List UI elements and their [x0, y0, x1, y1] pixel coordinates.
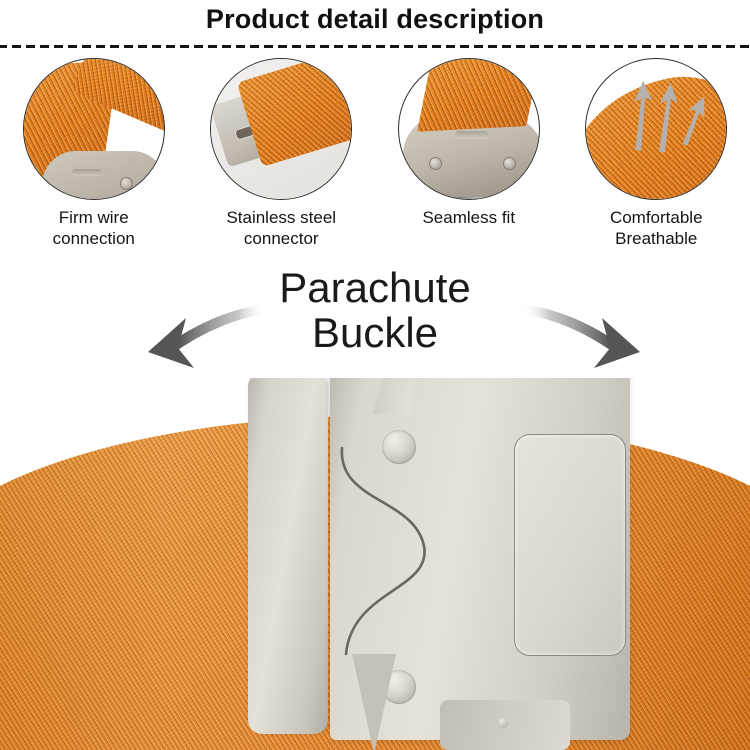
feature-item-stainless-steel-connector: Stainless steel connector: [188, 58, 376, 250]
rivet-icon: [120, 177, 133, 190]
stainless-steel-connector-photo-icon: [210, 58, 352, 200]
parachute-buckle: [0, 378, 750, 750]
seamless-fit-photo-icon: [398, 58, 540, 200]
breathable-fabric-airflow-photo-icon: [585, 58, 727, 200]
woven-strap-end: [417, 58, 540, 132]
feature-item-firm-wire-connection: Firm wire connection: [0, 58, 188, 250]
strap-wire-connection-photo-icon: [23, 58, 165, 200]
rivet-icon: [429, 157, 442, 170]
buckle-prong-icon: [352, 654, 396, 750]
feature-item-seamless-fit: Seamless fit: [375, 58, 563, 250]
product-detail-image: Product detail description Firm wire con…: [0, 0, 750, 750]
feature-label: Stainless steel connector: [226, 208, 336, 249]
rivet-icon: [503, 157, 516, 170]
page-title: Product detail description: [0, 4, 750, 35]
feature-label: Seamless fit: [422, 208, 515, 229]
product-photo: [0, 378, 750, 750]
buckle-release-button[interactable]: [514, 434, 626, 656]
buckle-rivet-top-icon: [382, 430, 416, 464]
feature-list: Firm wire connection Stainless steel con…: [0, 58, 750, 250]
watch-case: [42, 151, 165, 200]
buckle-seam-line: [336, 440, 516, 670]
buckle-lower-plate: [440, 700, 570, 750]
airflow-arrows-icon: [586, 59, 726, 199]
curved-arrow-left-icon: [138, 296, 268, 372]
feature-label: Comfortable Breathable: [610, 208, 703, 249]
header-dashed-divider: [0, 45, 750, 48]
buckle-keeper-bar: [248, 378, 328, 734]
curved-arrow-right-icon: [520, 296, 650, 372]
feature-label: Firm wire connection: [53, 208, 135, 249]
feature-item-comfortable-breathable: Comfortable Breathable: [563, 58, 750, 250]
